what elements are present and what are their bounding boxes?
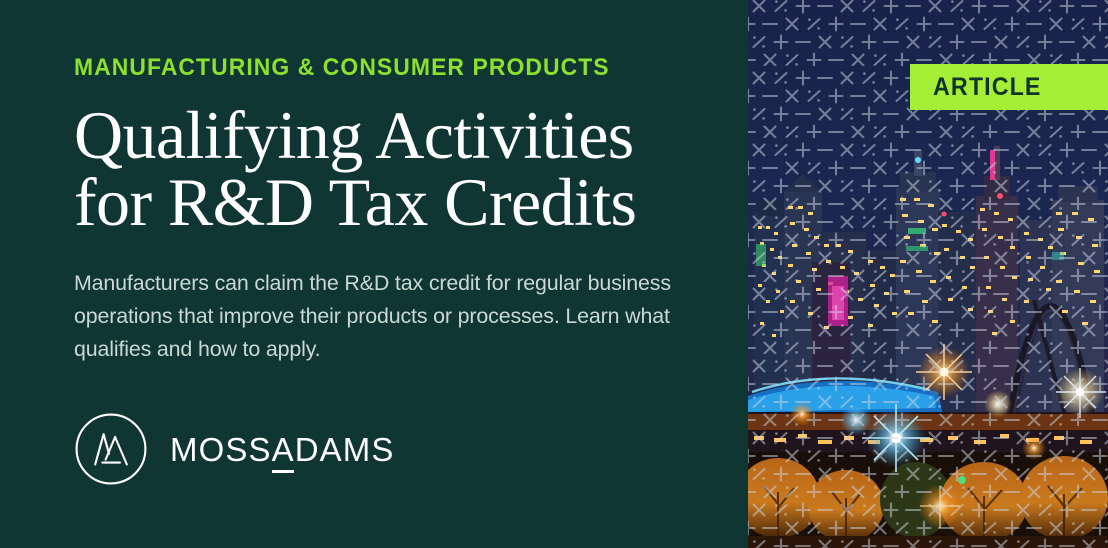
subcopy-text: Manufacturers can claim the R&D tax cred…: [74, 267, 704, 365]
category-eyebrow: MANUFACTURING & CONSUMER PRODUCTS: [74, 56, 663, 81]
article-banner: MANUFACTURING & CONSUMER PRODUCTS Qualif…: [0, 0, 1108, 548]
page-title: Qualifying Activities for R&D Tax Credit…: [74, 102, 704, 237]
wordmark-dams: DAMS: [295, 431, 395, 468]
wordmark-moss: MOSS: [170, 431, 272, 468]
moss-adams-monogram-icon: [74, 412, 148, 486]
wordmark-a-underlined: A: [272, 433, 295, 466]
hero-image-panel: ARTICLE: [748, 0, 1108, 548]
article-badge[interactable]: ARTICLE: [910, 64, 1108, 110]
moss-adams-wordmark: MOSSADAMS: [170, 433, 394, 466]
article-badge-label: ARTICLE: [933, 75, 1042, 100]
left-text-panel: MANUFACTURING & CONSUMER PRODUCTS Qualif…: [0, 0, 748, 548]
moss-adams-logo[interactable]: MOSSADAMS: [74, 412, 704, 486]
